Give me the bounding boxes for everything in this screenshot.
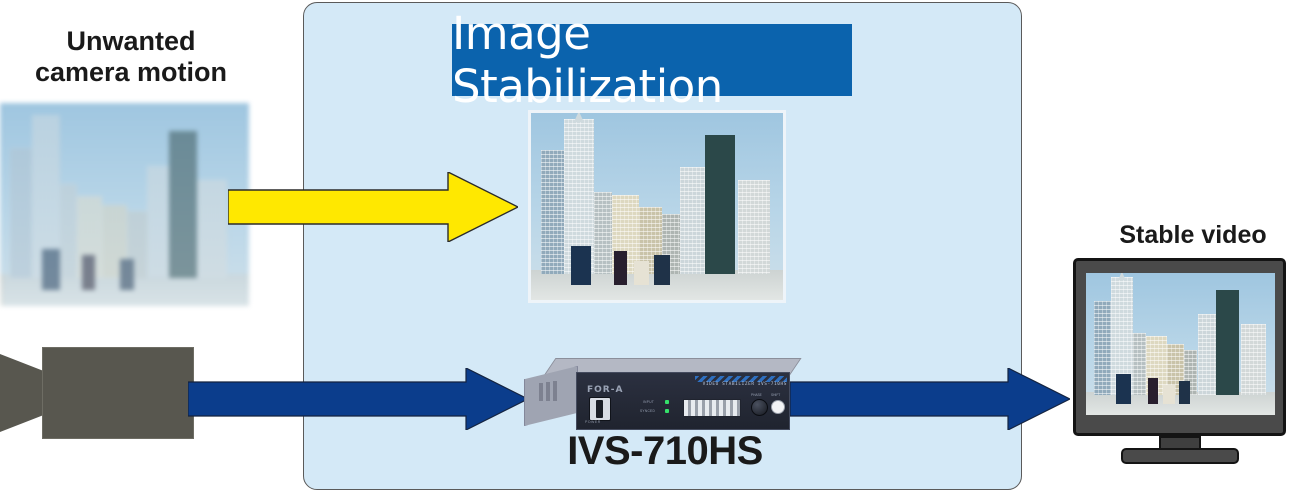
- device-side-panel: [524, 366, 578, 426]
- building: [680, 167, 705, 274]
- image-stabilization-banner: Image Stabilization: [452, 24, 852, 96]
- shift-button-label: SHIFT: [771, 393, 780, 397]
- video-monitor: [1073, 258, 1286, 470]
- video-signal-in-arrow: [188, 368, 528, 430]
- building: [1198, 314, 1217, 395]
- phase-knob[interactable]: [751, 399, 768, 416]
- phase-knob-label: PHASE: [751, 393, 762, 397]
- input-led: [665, 400, 669, 404]
- unwanted-motion-label: Unwanted camera motion: [0, 26, 262, 89]
- building: [1241, 324, 1266, 395]
- motion-ghost: [3, 105, 249, 306]
- ivs-710hs-device: VIDEO STABILIZER IVS-710HS FOR-A POWER I…: [524, 358, 792, 430]
- stable-video-label: Stable video: [1086, 221, 1300, 250]
- stabilized-image: [528, 110, 786, 303]
- device-front-text: VIDEO STABILIZER IVS-710HS: [689, 382, 787, 387]
- building: [614, 251, 627, 285]
- monitor-stand-base: [1121, 448, 1239, 464]
- synced-led-label: SYNCED: [640, 409, 655, 413]
- monitor-screen-image: [1086, 273, 1275, 415]
- building: [654, 255, 669, 285]
- building: [1094, 301, 1111, 395]
- input-led-label: INPUT: [643, 400, 654, 404]
- power-label: POWER: [585, 420, 601, 424]
- dip-switch-bank[interactable]: [683, 399, 741, 417]
- camera-body: [42, 347, 194, 439]
- building: [705, 135, 735, 273]
- camera-lens: [0, 354, 44, 432]
- building: [594, 192, 612, 274]
- building: [634, 261, 649, 285]
- building: [1216, 290, 1239, 395]
- power-switch[interactable]: [589, 397, 611, 421]
- unwanted-motion-label-line2: camera motion: [0, 57, 262, 88]
- building: [541, 150, 564, 273]
- building: [571, 246, 591, 285]
- vent-slot: [546, 382, 550, 401]
- shift-button[interactable]: [771, 400, 785, 414]
- unwanted-motion-image: [0, 103, 249, 306]
- image-correction-arrow: [228, 172, 518, 242]
- vent-slot: [553, 381, 557, 401]
- unwanted-motion-label-line1: Unwanted: [0, 26, 262, 57]
- building: [1133, 333, 1146, 395]
- building-spire: [574, 111, 584, 122]
- monitor-bezel: [1073, 258, 1286, 436]
- building: [1179, 381, 1190, 404]
- video-signal-out-arrow: [790, 368, 1070, 430]
- building: [738, 180, 771, 274]
- banner-title: Image Stabilization: [452, 7, 852, 113]
- building: [1148, 378, 1157, 404]
- video-camera-icon: [0, 347, 200, 439]
- building: [1163, 385, 1174, 403]
- vent-slot: [539, 383, 543, 401]
- device-brand-logo: FOR-A: [587, 385, 623, 395]
- device-front-panel: VIDEO STABILIZER IVS-710HS FOR-A POWER I…: [576, 372, 790, 430]
- device-model-label: IVS-710HS: [520, 428, 810, 474]
- synced-led: [665, 409, 669, 413]
- building: [1116, 374, 1131, 404]
